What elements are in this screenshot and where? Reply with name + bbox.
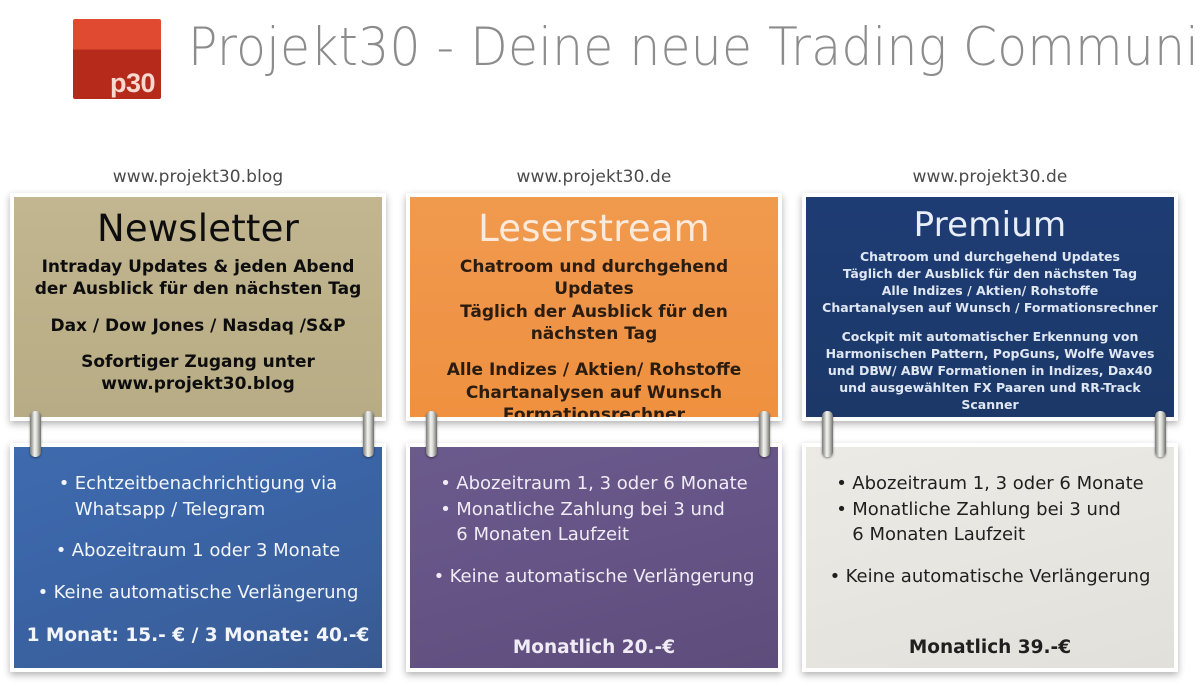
binder-rivet-left-icon (822, 411, 833, 457)
card-bottom-leserstream-content: Abozeitraum 1, 3 oder 6 Monate Monatlich… (410, 447, 778, 668)
plan-title-premium: Premium (914, 207, 1067, 244)
plan-feature-paragraph: Cockpit mit automatischer Erkennung von … (816, 328, 1164, 413)
binder-rivet-left-icon (30, 411, 41, 457)
list-item: Abozeitraum 1, 3 oder 6 Monate (836, 471, 1143, 497)
plan-feature-paragraph: Chatroom und durchgehend Updates Täglich… (822, 248, 1158, 316)
list-item: Abozeitraum 1, 3 oder 6 Monate (440, 471, 747, 497)
card-bottom-premium-content: Abozeitraum 1, 3 oder 6 Monate Monatlich… (806, 447, 1174, 668)
plan-title-leserstream: Leserstream (478, 209, 710, 250)
price-label-leserstream: Monatlich 20.-€ (420, 637, 768, 658)
binder-rivet-right-icon (1155, 411, 1166, 457)
binder-rivet-left-icon (426, 411, 437, 457)
plan-feature-paragraph: Alle Indizes / Aktien/ Rohstoffe Chartan… (447, 359, 742, 421)
column-url-leserstream[interactable]: www.projekt30.de (404, 167, 784, 187)
binder-rivet-right-icon (759, 411, 770, 457)
card-top-leserstream: Leserstream Chatroom und durchgehend Upd… (406, 193, 782, 421)
list-item: Abozeitraum 1 oder 3 Monate (56, 538, 341, 564)
terms-group: Keine automatische Verlängerung (38, 580, 359, 606)
card-top-newsletter: Newsletter Intraday Updates & jeden Aben… (10, 193, 386, 421)
logo-label: p30 (110, 70, 155, 97)
card-top-leserstream-content: Leserstream Chatroom und durchgehend Upd… (410, 197, 778, 417)
list-item: Keine automatische Verlängerung (434, 564, 755, 590)
list-item: Keine automatische Verlängerung (830, 564, 1151, 590)
card-bottom-leserstream: Abozeitraum 1, 3 oder 6 Monate Monatlich… (406, 443, 782, 672)
column-url-premium[interactable]: www.projekt30.de (800, 167, 1180, 187)
plan-feature-paragraph: Chatroom und durchgehend Updates Täglich… (420, 256, 768, 346)
list-item: Monatliche Zahlung bei 3 und 6 Monaten L… (836, 497, 1143, 548)
terms-list: Echtzeitbenachrichtigung via Whatsapp / … (24, 471, 372, 605)
card-bottom-premium: Abozeitraum 1, 3 oder 6 Monate Monatlich… (802, 443, 1178, 672)
page-header: p30 Projekt30 - Deine neue Trading Commu… (0, 0, 1200, 125)
plan-feature-paragraph: Intraday Updates & jeden Abend der Ausbl… (35, 256, 362, 301)
terms-group: Abozeitraum 1, 3 oder 6 Monate Monatlich… (440, 471, 747, 548)
terms-group: Keine automatische Verlängerung (434, 564, 755, 590)
card-top-premium-content: Premium Chatroom und durchgehend Updates… (806, 197, 1174, 417)
list-item: Monatliche Zahlung bei 3 und 6 Monaten L… (440, 497, 747, 548)
card-top-newsletter-content: Newsletter Intraday Updates & jeden Aben… (14, 197, 382, 417)
plan-feature-paragraph: Sofortiger Zugang unter www.projekt30.bl… (81, 351, 315, 396)
projekt30-logo: p30 (73, 19, 161, 99)
plan-title-newsletter: Newsletter (97, 209, 299, 250)
pricing-column-premium: www.projekt30.de Premium Chatroom und du… (800, 125, 1180, 691)
terms-group: Keine automatische Verlängerung (830, 564, 1151, 590)
list-item: Echtzeitbenachrichtigung via Whatsapp / … (59, 471, 337, 522)
binder-rivet-right-icon (363, 411, 374, 457)
card-bottom-newsletter: Echtzeitbenachrichtigung via Whatsapp / … (10, 443, 386, 672)
card-bottom-newsletter-content: Echtzeitbenachrichtigung via Whatsapp / … (14, 447, 382, 668)
card-top-premium: Premium Chatroom und durchgehend Updates… (802, 193, 1178, 421)
terms-group: Abozeitraum 1, 3 oder 6 Monate Monatlich… (836, 471, 1143, 548)
page-title: Projekt30 - Deine neue Trading Community (188, 17, 1200, 78)
terms-group: Echtzeitbenachrichtigung via Whatsapp / … (59, 471, 337, 522)
list-item: Keine automatische Verlängerung (38, 580, 359, 606)
pricing-column-newsletter: www.projekt30.blog Newsletter Intraday U… (8, 125, 388, 691)
terms-group: Abozeitraum 1 oder 3 Monate (56, 538, 341, 564)
terms-list: Abozeitraum 1, 3 oder 6 Monate Monatlich… (816, 471, 1164, 589)
price-label-premium: Monatlich 39.-€ (816, 637, 1164, 658)
pricing-column-leserstream: www.projekt30.de Leserstream Chatroom un… (404, 125, 784, 691)
price-label-newsletter: 1 Monat: 15.- € / 3 Monate: 40.-€ (24, 625, 372, 646)
plan-feature-paragraph: Dax / Dow Jones / Nasdaq /S&P (50, 315, 345, 337)
pricing-columns: www.projekt30.blog Newsletter Intraday U… (0, 125, 1200, 691)
column-url-newsletter[interactable]: www.projekt30.blog (8, 167, 388, 187)
terms-list: Abozeitraum 1, 3 oder 6 Monate Monatlich… (420, 471, 768, 589)
